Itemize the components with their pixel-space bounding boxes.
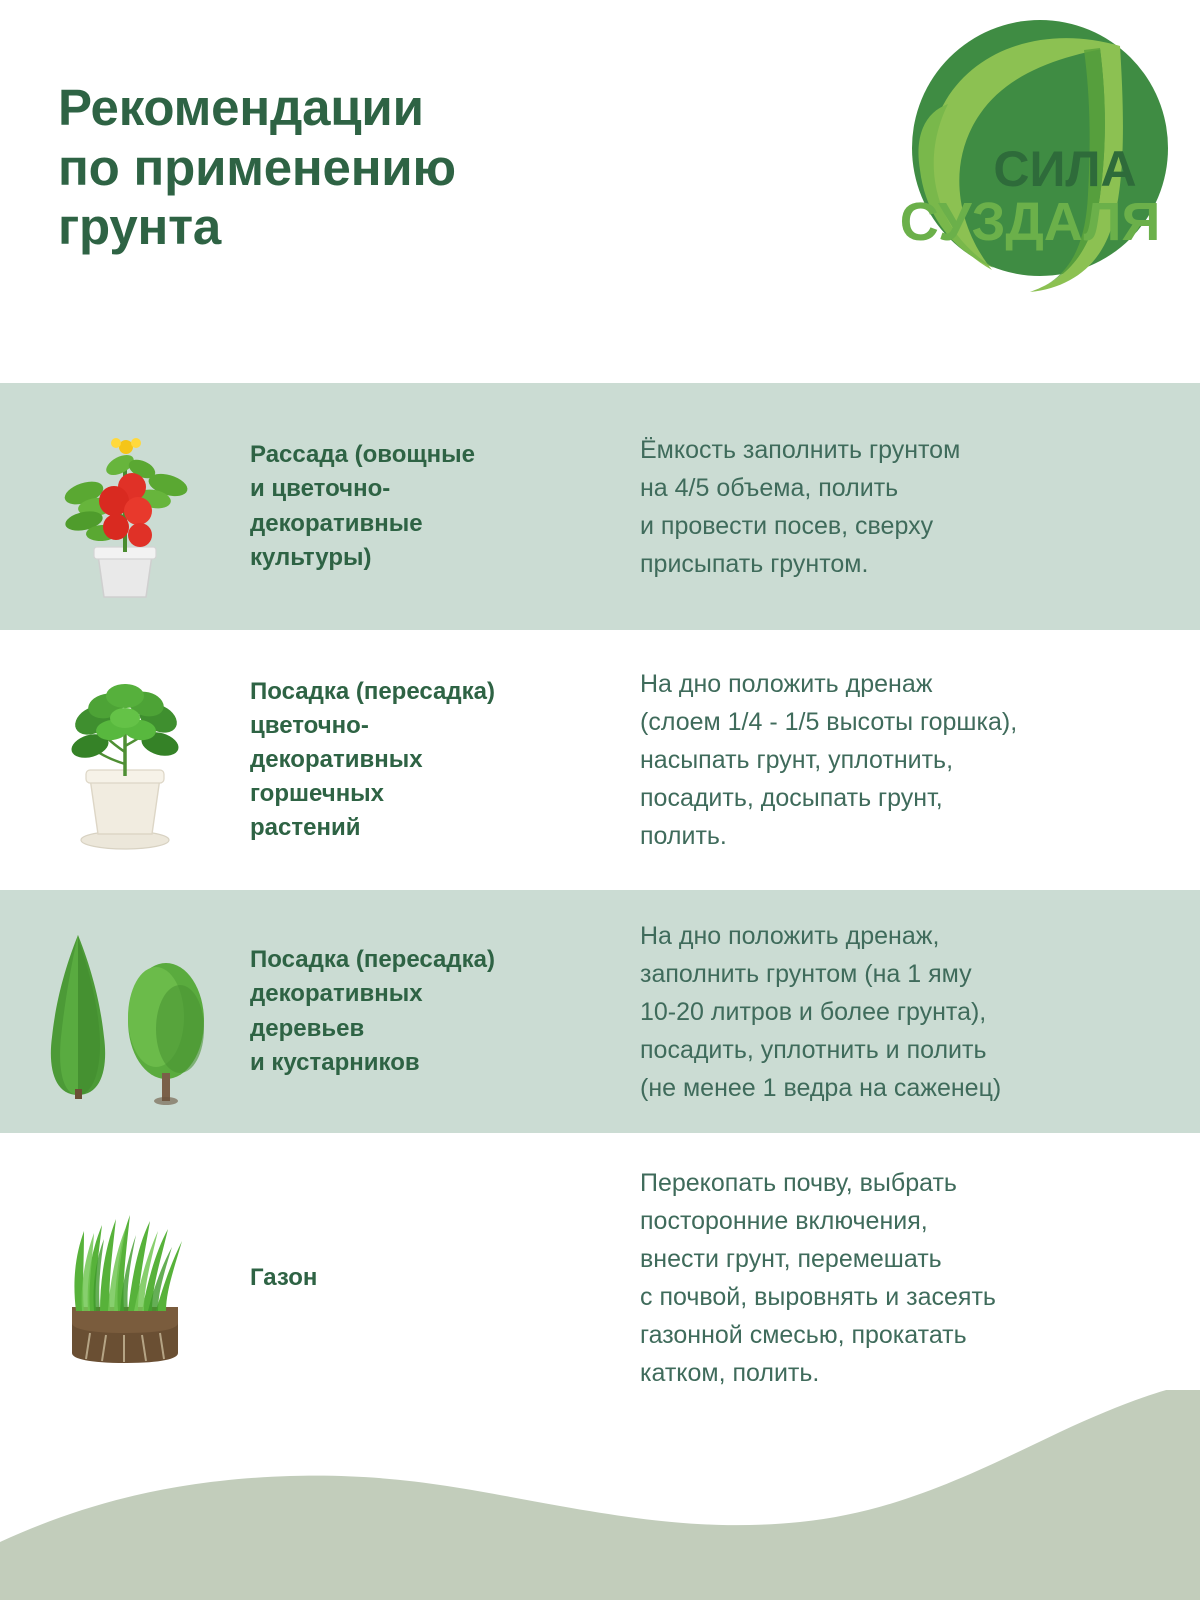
trees-and-shrubs-icon	[0, 890, 250, 1133]
page-title: Рекомендации по применению грунта	[58, 78, 678, 257]
logo-text-line1: СИЛА	[993, 141, 1136, 197]
row-description: Перекопать почву, выбрать посторонние вк…	[640, 1164, 1200, 1392]
table-row: Посадка (пересадка) цветочно- декоративн…	[0, 630, 1200, 890]
table-row: Газон Перекопать почву, выбрать посторон…	[0, 1133, 1200, 1423]
table-row: Посадка (пересадка) декоративных деревье…	[0, 890, 1200, 1133]
wave-shape-icon	[0, 1390, 1200, 1600]
bottom-wave-decoration	[0, 1390, 1200, 1600]
row-title: Газон	[250, 1261, 640, 1295]
logo-text-line2: СУЗДАЛЯ	[900, 192, 1161, 252]
row-title: Рассада (овощные и цветочно- декоративны…	[250, 438, 640, 574]
lawn-grass-icon	[0, 1133, 250, 1423]
row-description: Ёмкость заполнить грунтом на 4/5 объема,…	[640, 431, 1200, 583]
table-row: Рассада (овощные и цветочно- декоративны…	[0, 383, 1200, 630]
row-description: На дно положить дренаж, заполнить грунто…	[640, 917, 1200, 1107]
tomato-seedling-icon	[0, 383, 250, 630]
row-description: На дно положить дренаж (слоем 1/4 - 1/5 …	[640, 665, 1200, 855]
row-title: Посадка (пересадка) цветочно- декоративн…	[250, 675, 640, 845]
potted-plant-icon	[0, 630, 250, 890]
page-header: Рекомендации по применению грунта СИЛА С…	[0, 0, 1200, 375]
brand-logo: СИЛА СУЗДАЛЯ	[862, 8, 1192, 298]
row-title: Посадка (пересадка) декоративных деревье…	[250, 943, 640, 1079]
